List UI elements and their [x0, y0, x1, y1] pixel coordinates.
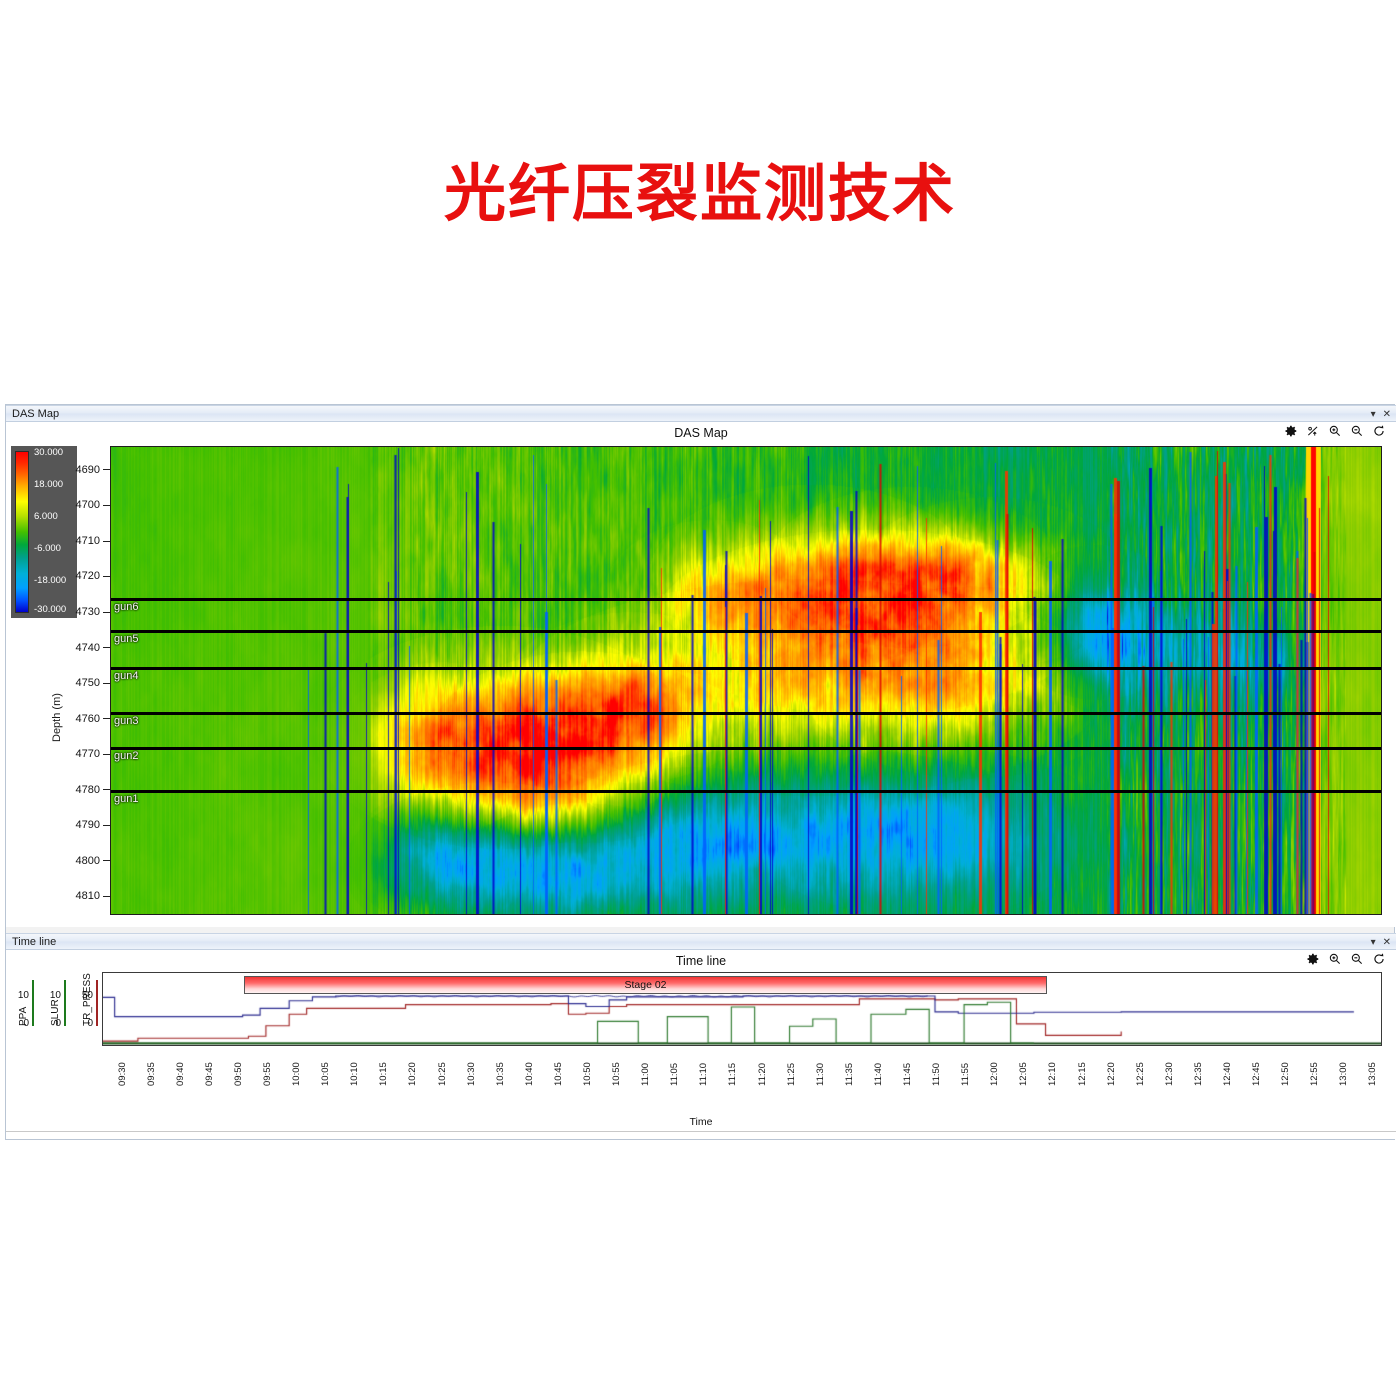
refresh-icon[interactable]: [1372, 952, 1386, 966]
close-icon[interactable]: ✕: [1383, 410, 1391, 420]
axis-tick: 0: [76, 1018, 93, 1029]
time-tick: 12:05: [1018, 1062, 1029, 1086]
das-map-titlebar-label: DAS Map: [12, 407, 59, 421]
time-tick: 11:15: [727, 1063, 738, 1086]
timeline-chart-title: Time line: [6, 954, 1396, 968]
gun-marker-line: [111, 712, 1381, 715]
depth-tick: 4760: [6, 713, 110, 725]
time-tick: 10:35: [495, 1062, 506, 1086]
depth-tick: 4740: [6, 642, 110, 654]
depth-tick: 4770: [6, 748, 110, 760]
close-icon[interactable]: ✕: [1383, 938, 1391, 948]
time-tick: 11:05: [669, 1063, 680, 1086]
das-map-panel: DAS Map ▾ ✕ DAS Map: [6, 405, 1396, 927]
das-map-body: DAS Map: [6, 422, 1396, 926]
time-tick: 12:15: [1077, 1062, 1088, 1086]
time-tick: 09:45: [204, 1062, 215, 1086]
zoom-out-icon[interactable]: [1350, 952, 1364, 966]
timeline-body: Time line PPA100SLUR100TR_PRESS500: [6, 950, 1396, 1138]
colorbar-tick: 6.000: [34, 511, 58, 522]
depth-tick: 4730: [6, 606, 110, 618]
axis-tick: 50: [76, 990, 93, 1001]
page-title: 光纤压裂监测技术: [0, 160, 1400, 228]
time-tick: 12:40: [1222, 1062, 1233, 1086]
time-tick: 10:25: [437, 1062, 448, 1086]
time-tick: 11:40: [873, 1063, 884, 1086]
gun-marker-label: gun5: [114, 633, 138, 645]
timeline-panel: Time line ▾ ✕ Time line: [6, 933, 1396, 1139]
time-tick: 12:25: [1135, 1062, 1146, 1086]
timeline-titlebar-label: Time line: [12, 935, 56, 949]
time-tick: 12:20: [1106, 1062, 1117, 1086]
depth-tick: 4690: [6, 464, 110, 476]
panel-separator: [6, 1131, 1396, 1132]
app-window: DAS Map ▾ ✕ DAS Map: [5, 404, 1395, 1140]
depth-tick: 4720: [6, 570, 110, 582]
time-tick: 11:35: [844, 1063, 855, 1086]
time-tick: 09:30: [117, 1062, 128, 1086]
gun-marker-line: [111, 747, 1381, 750]
time-tick: 11:50: [931, 1063, 942, 1086]
gun-marker-label: gun3: [114, 715, 138, 727]
zoom-in-icon[interactable]: [1328, 952, 1342, 966]
time-tick: 12:30: [1164, 1062, 1175, 1086]
time-tick: 10:10: [349, 1062, 360, 1086]
axis-tick: 10: [12, 990, 29, 1001]
time-tick: 11:55: [960, 1063, 971, 1086]
time-tick: 10:30: [466, 1062, 477, 1086]
axis-line: [32, 980, 34, 1026]
timeline-toolbar: [1306, 952, 1386, 966]
time-tick: 11:45: [902, 1063, 913, 1086]
gun-marker-label: gun2: [114, 750, 138, 762]
depth-tick: 4810: [6, 890, 110, 902]
gun-marker-line: [111, 667, 1381, 670]
time-tick: 09:35: [146, 1062, 157, 1086]
time-tick: 09:40: [175, 1062, 186, 1086]
gun-marker-line: [111, 630, 1381, 633]
axis-tick: 0: [12, 1018, 29, 1029]
time-tick: 12:10: [1047, 1062, 1058, 1086]
gear-icon[interactable]: [1284, 424, 1298, 438]
depth-tick: 4780: [6, 784, 110, 796]
time-tick: 09:50: [233, 1062, 244, 1086]
depth-tick: 4700: [6, 499, 110, 511]
depth-tick: 4710: [6, 535, 110, 547]
chevron-down-icon[interactable]: ▾: [1371, 410, 1376, 420]
das-map-titlebar: DAS Map ▾ ✕: [6, 405, 1396, 422]
colorbar-tick: 18.000: [34, 479, 63, 490]
gun-marker-line: [111, 790, 1381, 793]
time-tick: 10:05: [320, 1062, 331, 1086]
time-tick: 12:45: [1251, 1062, 1262, 1086]
time-tick: 10:50: [582, 1062, 593, 1086]
gun-marker-label: gun4: [114, 670, 138, 682]
scale-icon[interactable]: [1306, 424, 1320, 438]
timeline-plot[interactable]: Stage 02: [102, 972, 1382, 1046]
gun-marker-label: gun6: [114, 601, 138, 613]
time-tick: 11:20: [757, 1063, 768, 1086]
depth-tick: 4800: [6, 855, 110, 867]
das-map-chart-title: DAS Map: [6, 426, 1396, 440]
timeline-titlebar: Time line ▾ ✕: [6, 933, 1396, 950]
axis-tick: 0: [44, 1018, 61, 1029]
time-tick: 10:00: [291, 1062, 302, 1086]
time-tick: 10:40: [524, 1062, 535, 1086]
time-tick: 11:00: [640, 1063, 651, 1086]
time-tick: 11:10: [698, 1063, 709, 1086]
gear-icon[interactable]: [1306, 952, 1320, 966]
time-tick: 13:00: [1338, 1062, 1349, 1086]
timeline-x-axis-label: Time: [6, 1116, 1396, 1128]
das-map-toolbar: [1284, 424, 1386, 438]
time-tick: 12:00: [989, 1062, 1000, 1086]
das-heatmap[interactable]: gun6gun5gun4gun3gun2gun1: [110, 446, 1382, 915]
time-tick: 12:35: [1193, 1062, 1204, 1086]
axis-line: [64, 980, 66, 1026]
time-tick: 10:20: [407, 1062, 418, 1086]
time-tick: 09:55: [262, 1062, 273, 1086]
depth-tick: 4790: [6, 819, 110, 831]
timeline-curves-canvas: [103, 973, 1382, 1046]
gun-marker-label: gun1: [114, 793, 138, 805]
time-tick: 10:15: [378, 1062, 389, 1086]
time-tick: 12:55: [1309, 1062, 1320, 1086]
axis-line: [96, 980, 98, 1026]
gun-marker-line: [111, 598, 1381, 601]
refresh-icon[interactable]: [1372, 424, 1386, 438]
time-tick: 11:30: [815, 1063, 826, 1086]
time-tick: 11:25: [786, 1063, 797, 1086]
chevron-down-icon[interactable]: ▾: [1371, 938, 1376, 948]
time-tick: 10:55: [611, 1062, 622, 1086]
time-tick: 13:05: [1367, 1062, 1378, 1086]
time-tick: 10:45: [553, 1062, 564, 1086]
time-tick: 12:50: [1280, 1062, 1291, 1086]
zoom-in-icon[interactable]: [1328, 424, 1342, 438]
das-heatmap-canvas[interactable]: [111, 447, 1382, 915]
colorbar-tick: 30.000: [34, 447, 63, 458]
zoom-out-icon[interactable]: [1350, 424, 1364, 438]
axis-tick: 10: [44, 990, 61, 1001]
depth-tick: 4750: [6, 677, 110, 689]
